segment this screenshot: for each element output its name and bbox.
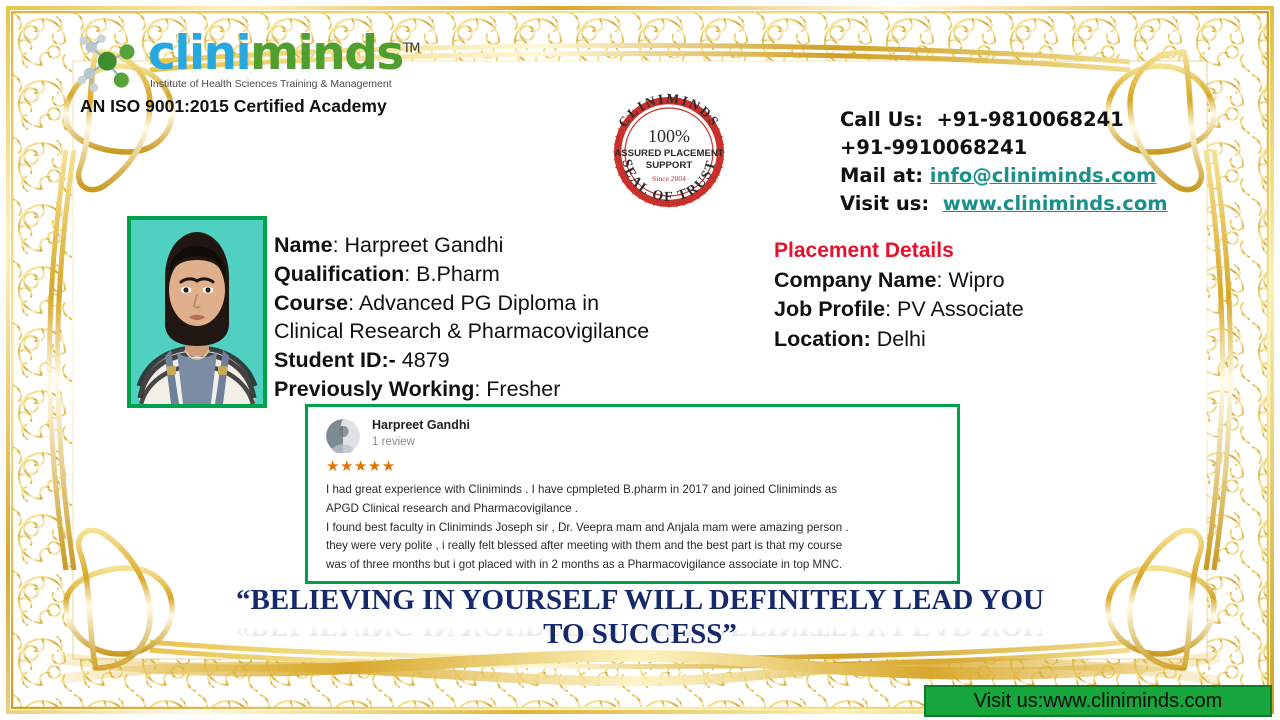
placement-details-block: Placement Details Company Name: Wipro Jo… xyxy=(774,237,1024,354)
google-review-card: Harpreet Gandhi 1 review ★★★★★ I had gre… xyxy=(305,404,960,584)
location-row: Location: Delhi xyxy=(774,325,1024,354)
phone-primary: +91-9810068241 xyxy=(936,108,1123,131)
svg-text:100%: 100% xyxy=(648,126,690,146)
student-course-row: Course: Advanced PG Diploma in xyxy=(274,289,649,318)
review-text-line: APGD Clinical research and Pharmacovigil… xyxy=(326,500,943,519)
previously-working-label: Previously Working xyxy=(274,377,474,401)
review-text-line: I had great experience with Cliniminds .… xyxy=(326,481,943,500)
certificate-canvas: clinimindsTM Institute of Health Science… xyxy=(0,0,1280,720)
previously-working-value: : Fresher xyxy=(474,377,560,401)
course-label: Course xyxy=(274,291,348,315)
header-row: clinimindsTM Institute of Health Science… xyxy=(0,0,1280,120)
reviewer-name: Harpreet Gandhi xyxy=(372,418,470,434)
previously-working-row: Previously Working: Fresher xyxy=(274,375,649,404)
cliniminds-logo: clinimindsTM Institute of Health Science… xyxy=(78,30,408,117)
qualification-label: Qualification xyxy=(274,262,404,286)
student-photo xyxy=(127,216,267,408)
review-header: Harpreet Gandhi 1 review xyxy=(326,417,943,453)
website-link[interactable]: www.cliniminds.com xyxy=(943,192,1168,215)
review-text-line: they were very polite , i really felt bl… xyxy=(326,537,943,556)
email-link[interactable]: info@cliniminds.com xyxy=(930,164,1157,187)
location-value: Delhi xyxy=(871,327,926,351)
logo-wordmark: clinimindsTM xyxy=(148,30,408,77)
review-count: 1 review xyxy=(372,434,470,450)
student-id-label: Student ID:- xyxy=(274,348,396,372)
svg-text:ASSURED PLACEMENT: ASSURED PLACEMENT xyxy=(614,148,723,159)
visit-line: Visit us: www.cliniminds.com xyxy=(840,190,1168,218)
company-value: : Wipro xyxy=(937,268,1005,292)
student-qualification-row: Qualification: B.Pharm xyxy=(274,260,649,289)
job-profile-row: Job Profile: PV Associate xyxy=(774,295,1024,324)
placement-details-title: Placement Details xyxy=(774,237,1024,266)
review-text: I had great experience with Cliniminds .… xyxy=(326,481,943,575)
company-row: Company Name: Wipro xyxy=(774,266,1024,295)
logo-clini-text: clini xyxy=(148,26,250,81)
job-profile-value: : PV Associate xyxy=(885,297,1024,321)
contact-details: Call Us: +91-9810068241 +91-9910068241 M… xyxy=(840,106,1168,218)
student-id-row: Student ID:- 4879 xyxy=(274,346,649,375)
svg-text:Since 2004: Since 2004 xyxy=(652,174,686,183)
trademark-icon: TM xyxy=(403,41,419,56)
course-value: : Advanced PG Diploma in xyxy=(348,291,599,315)
logo-minds-text: minds xyxy=(250,26,403,81)
visit-us-banner[interactable]: Visit us:www.cliniminds.com xyxy=(924,685,1272,717)
call-us-label: Call Us: xyxy=(840,108,923,131)
call-us-line: Call Us: +91-9810068241 xyxy=(840,106,1168,134)
student-name-row: Name: Harpreet Gandhi xyxy=(274,231,649,260)
assured-placement-seal: CLINIMINDS 100% ASSURED PLACEMENT SUPPOR… xyxy=(604,92,734,210)
student-name-label: Name xyxy=(274,233,333,257)
review-text-line: I found best faculty in Cliniminds Josep… xyxy=(326,519,943,538)
student-course-row-2: Clinical Research & Pharmacovigilance xyxy=(274,317,649,346)
company-label: Company Name xyxy=(774,268,937,292)
job-profile-label: Job Profile xyxy=(774,297,885,321)
location-label: Location: xyxy=(774,327,871,351)
visit-label: Visit us: xyxy=(840,192,929,215)
student-id-value: 4879 xyxy=(396,348,450,372)
star-rating: ★★★★★ xyxy=(326,459,943,474)
mail-label: Mail at: xyxy=(840,164,923,187)
student-details-block: Name: Harpreet Gandhi Qualification: B.P… xyxy=(274,231,649,404)
review-text-line: was of three months but i got placed wit… xyxy=(326,556,943,575)
mail-line: Mail at: info@cliniminds.com xyxy=(840,162,1168,190)
molecule-icon xyxy=(78,32,144,96)
iso-certification-line: AN ISO 9001:2015 Certified Academy xyxy=(80,96,408,117)
svg-text:SUPPORT: SUPPORT xyxy=(646,160,693,171)
phone-secondary: +91-9910068241 xyxy=(840,134,1168,162)
student-name-value: : Harpreet Gandhi xyxy=(333,233,504,257)
qualification-value: : B.Pharm xyxy=(404,262,500,286)
review-meta: Harpreet Gandhi 1 review xyxy=(372,417,470,450)
avatar-icon xyxy=(326,419,360,453)
